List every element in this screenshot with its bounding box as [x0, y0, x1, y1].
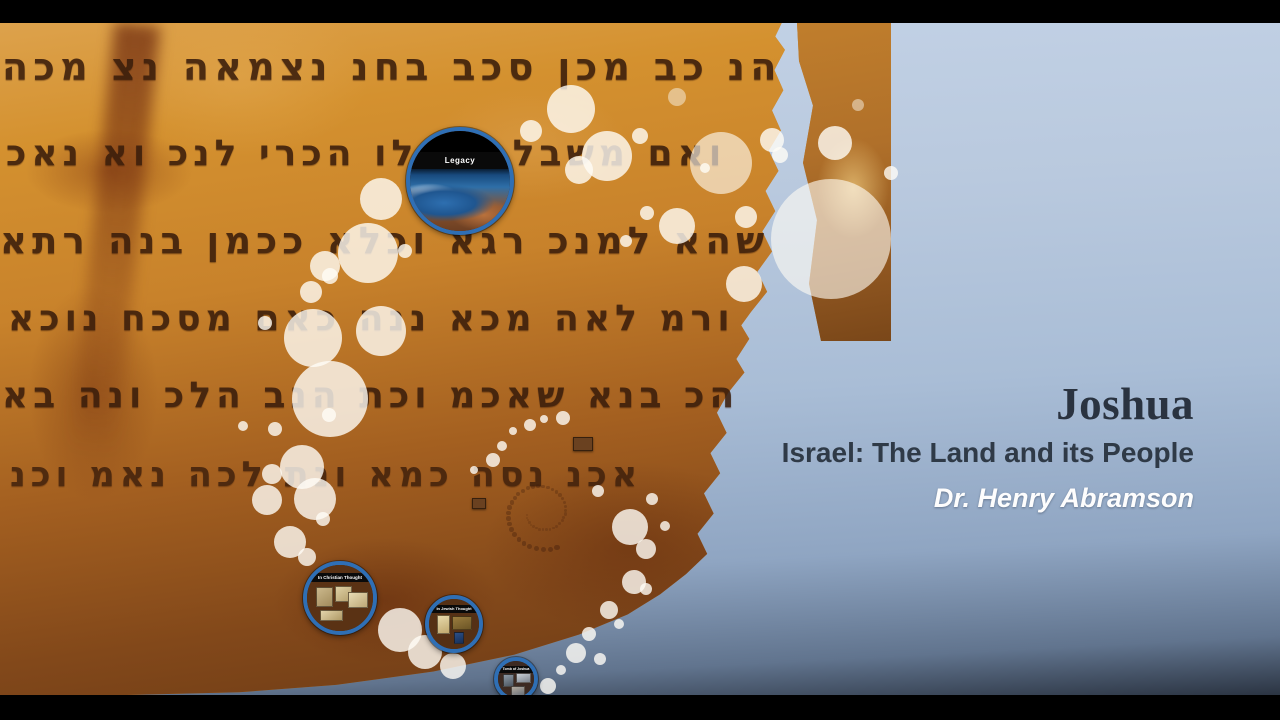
christian-node-label: In Christian Thought — [307, 573, 373, 582]
thumb-tile — [348, 592, 368, 608]
tomb-node-label: Tomb of Joshua — [498, 666, 534, 673]
legacy-node-label: Legacy — [410, 152, 510, 169]
thumb-tile — [320, 610, 343, 621]
thumb-tile — [437, 615, 450, 634]
prezi-node-in-jewish-thought[interactable]: In Jewish Thought — [425, 595, 483, 653]
prezi-node-legacy[interactable]: Legacy — [406, 127, 514, 235]
letterbox-bar-bottom — [0, 695, 1280, 720]
micro-thumbnail-1[interactable] — [573, 437, 593, 451]
prezi-slide-stage: הנ כב מכן סכב בחנ נצמאה נצ מכה ואם משבלת… — [0, 0, 1280, 720]
slide-canvas: הנ כב מכן סכב בחנ נצמאה נצ מכה ואם משבלת… — [0, 23, 1280, 695]
thumb-tile — [511, 686, 525, 695]
thumb-tile — [454, 632, 464, 644]
thumb-tile — [452, 616, 472, 630]
subtitle: Israel: The Land and its People — [764, 436, 1194, 469]
thumb-tile — [516, 673, 531, 683]
letterbox-bar-top — [0, 0, 1280, 23]
dead-sea-scroll-image: הנ כב מכן סכב בחנ נצמאה נצ מכה ואם משבלת… — [0, 23, 841, 695]
page-title: Joshua — [764, 381, 1194, 428]
micro-thumbnail-2[interactable] — [472, 498, 486, 509]
thumb-tile — [316, 587, 333, 607]
author-name: Dr. Henry Abramson — [764, 483, 1194, 514]
scroll-side-fragment — [791, 23, 891, 341]
title-block: Joshua Israel: The Land and its People D… — [764, 381, 1194, 514]
jewish-node-label: In Jewish Thought — [429, 605, 479, 613]
prezi-node-tomb-of-joshua[interactable]: Tomb of Joshua — [494, 657, 538, 695]
prezi-node-in-christian-thought[interactable]: In Christian Thought — [303, 561, 377, 635]
legacy-earth-thumbnail — [410, 131, 510, 231]
